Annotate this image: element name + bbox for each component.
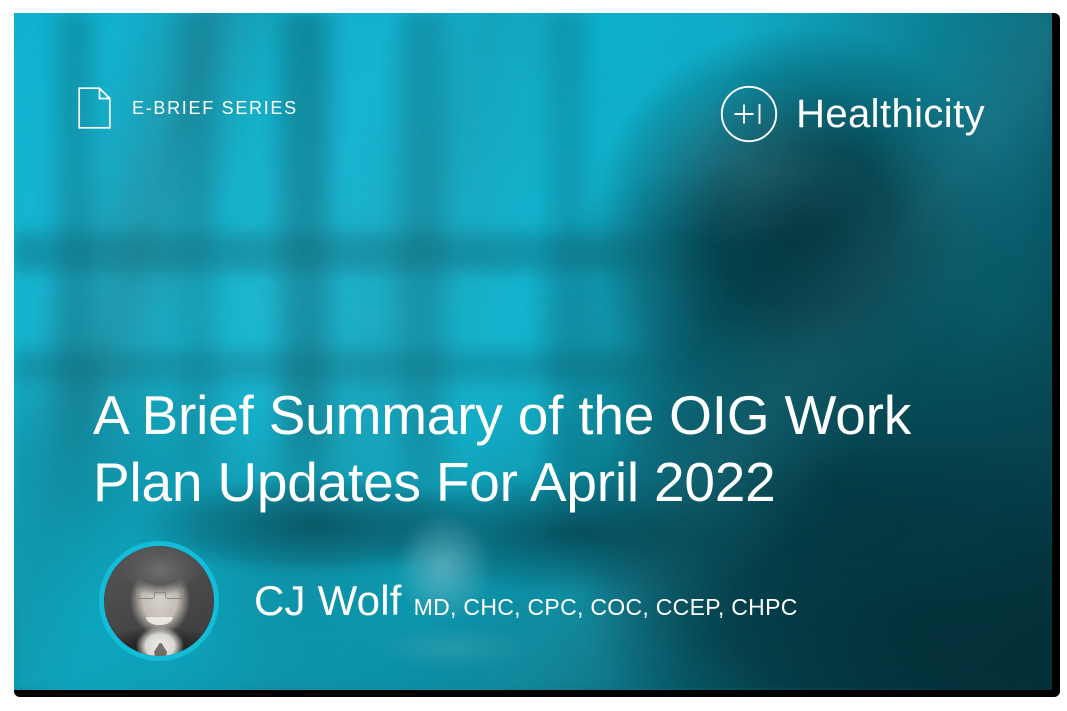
- author-name: CJ Wolf: [254, 577, 402, 625]
- page-root: E-BRIEF SERIES Healthicity A Brief Summa…: [0, 0, 1067, 711]
- avatar-glasses-bridge: [155, 592, 165, 593]
- healthicity-plus-circle-icon: [720, 85, 778, 143]
- avatar-glasses-left-lens: [136, 588, 155, 599]
- avatar-glasses-icon: [136, 588, 184, 599]
- page-title: A Brief Summary of the OIG Work Plan Upd…: [93, 382, 1033, 516]
- author-byline: CJ Wolf MD, CHC, CPC, COC, CCEP, CHPC: [99, 541, 798, 661]
- avatar-glasses-right-lens: [165, 588, 184, 599]
- author-text-group: CJ Wolf MD, CHC, CPC, COC, CCEP, CHPC: [254, 577, 798, 625]
- healthicity-logo[interactable]: Healthicity: [720, 85, 985, 143]
- page-title-line-2: Plan Updates For April 2022: [93, 451, 776, 513]
- page-title-line-1: A Brief Summary of the OIG Work: [93, 384, 911, 446]
- cover-slide: E-BRIEF SERIES Healthicity A Brief Summa…: [14, 13, 1052, 690]
- healthicity-wordmark: Healthicity: [796, 92, 985, 137]
- ebrief-series-label: E-BRIEF SERIES: [132, 98, 298, 119]
- avatar: [99, 541, 219, 661]
- slide-content: E-BRIEF SERIES Healthicity A Brief Summa…: [14, 13, 1052, 690]
- author-credentials: MD, CHC, CPC, COC, CCEP, CHPC: [414, 594, 798, 621]
- avatar-portrait-image: [104, 546, 214, 656]
- ebrief-series-badge: E-BRIEF SERIES: [78, 87, 298, 129]
- document-page-icon: [78, 87, 111, 129]
